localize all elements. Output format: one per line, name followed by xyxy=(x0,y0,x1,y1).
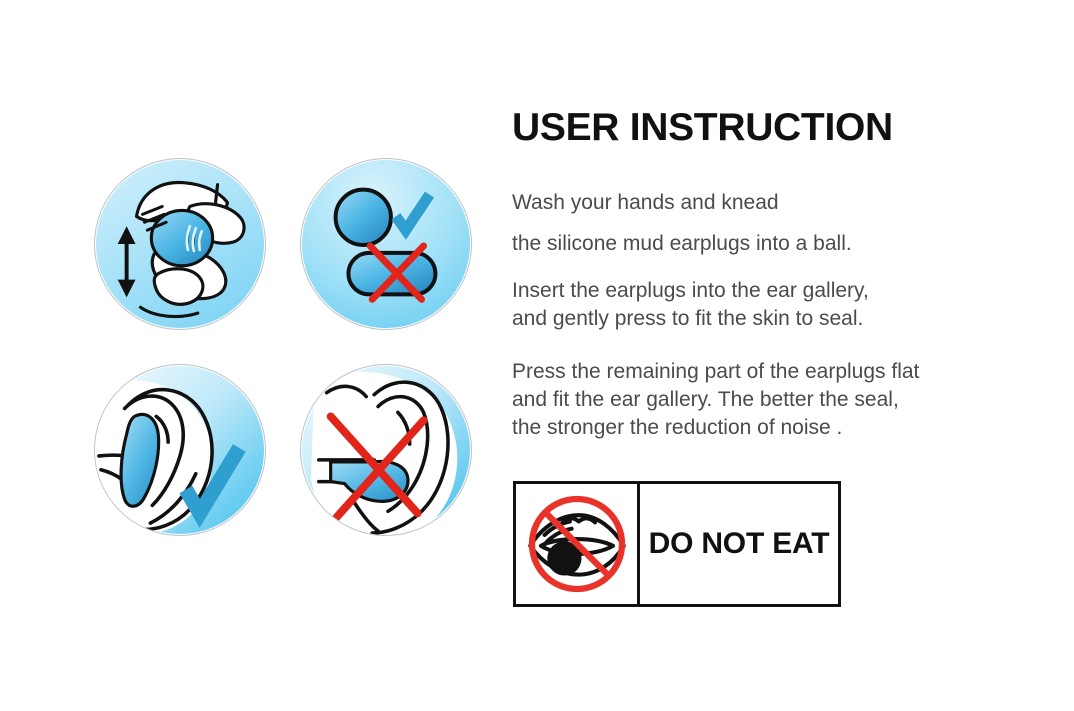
instruction-step-1-line-2: the silicone mud earplugs into a ball. xyxy=(512,223,852,264)
instruction-step-2: Insert the earplugs into the ear gallery… xyxy=(512,277,869,333)
instruction-step-3-line-3: the stronger the reduction of noise . xyxy=(512,414,919,442)
do-not-eat-label: DO NOT EAT xyxy=(640,484,838,604)
instruction-step-2-line-2: and gently press to fit the skin to seal… xyxy=(512,305,869,333)
instruction-step-3-line-1: Press the remaining part of the earplugs… xyxy=(512,358,919,386)
instruction-sheet: USER INSTRUCTION Wash your hands and kne… xyxy=(0,0,1074,711)
instruction-step-1-line-1: Wash your hands and knead xyxy=(512,182,852,223)
illustration-ear-wrong xyxy=(300,364,472,536)
illustration-ear-correct xyxy=(94,364,266,536)
illustration-knead-ball xyxy=(94,158,266,330)
instruction-step-3: Press the remaining part of the earplugs… xyxy=(512,358,919,442)
do-not-eat-warning: DO NOT EAT xyxy=(513,481,841,607)
illustration-grid xyxy=(94,158,476,544)
instruction-step-3-line-2: and fit the ear gallery. The better the … xyxy=(512,386,919,414)
page-title: USER INSTRUCTION xyxy=(512,108,893,147)
illustration-shape-check xyxy=(300,158,472,330)
instruction-step-1: Wash your hands and knead the silicone m… xyxy=(512,182,852,264)
no-eating-icon xyxy=(516,484,640,604)
instruction-step-2-line-1: Insert the earplugs into the ear gallery… xyxy=(512,277,869,305)
